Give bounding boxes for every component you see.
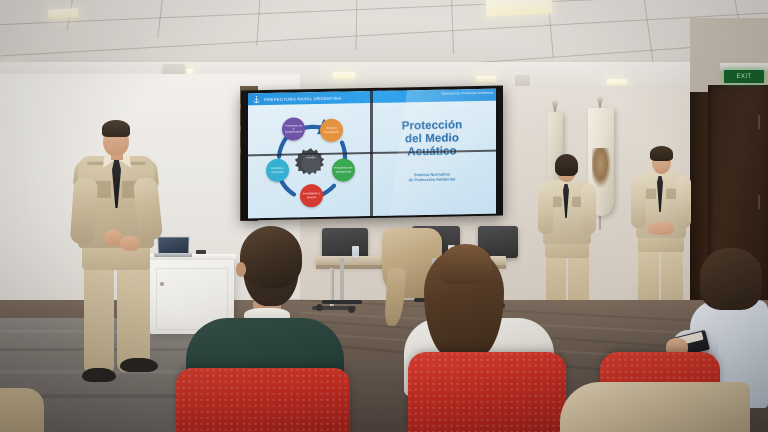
laptop-keyboard[interactable]	[154, 253, 192, 257]
presenter-hair	[102, 120, 130, 137]
officer-arm	[538, 184, 553, 234]
attendee-ear	[236, 262, 246, 277]
red-chair[interactable]	[176, 368, 350, 432]
officer-arm	[581, 184, 596, 234]
slide-subtitle: Sistema Normativo de Protección Ambienta…	[376, 171, 488, 183]
slide-org-text: PREFECTURA NAVAL ARGENTINA	[264, 95, 342, 101]
flag-crest	[592, 148, 611, 188]
ceiling-downlight	[48, 8, 78, 19]
slide-title: Protección del Medio Acuático	[376, 119, 488, 160]
water-glass	[352, 246, 359, 258]
ceiling-downlight	[476, 76, 496, 82]
presenter-hand	[120, 236, 140, 251]
chair-castor	[348, 306, 355, 313]
presentation-slide: PREFECTURA NAVAL ARGENTINA Direccion de …	[248, 89, 496, 219]
presenter-leg	[117, 262, 150, 372]
gear-icon	[295, 147, 327, 180]
red-chair[interactable]	[408, 352, 566, 432]
attendee-hair	[240, 226, 302, 288]
meeting-room-photo: EXIT PREFECTURA NAVAL ARGENTINA Direccio…	[0, 0, 768, 432]
officer-clasped-hands	[648, 222, 674, 235]
presenter-shoe	[82, 368, 116, 382]
presenter-leg	[84, 262, 114, 374]
officer-arm	[631, 176, 646, 228]
chair-base	[322, 300, 362, 304]
chair-castor	[316, 304, 323, 311]
officer-hair	[650, 146, 673, 161]
remote-control[interactable]	[196, 250, 206, 254]
exit-sign-label: EXIT	[737, 74, 752, 80]
anchor-crest-icon	[252, 95, 261, 104]
attendee-head	[440, 244, 492, 284]
presenter-arm	[70, 177, 99, 245]
cabinet-lock-icon	[160, 282, 164, 286]
presenter-shoe	[120, 358, 158, 372]
attendee-arm-far-left	[0, 388, 44, 432]
exit-sign: EXIT	[724, 70, 764, 83]
video-wall-display[interactable]: PREFECTURA NAVAL ARGENTINA Direccion de …	[248, 89, 496, 219]
ceiling-downlight	[333, 72, 355, 79]
ceiling-downlight	[607, 79, 627, 85]
slide-header-right-logo: Direccion de Proteccion Ambiental	[441, 90, 493, 95]
slide-subtitle-line2: de Protección Ambiental	[376, 176, 488, 183]
attendee-beige-trousers	[560, 382, 750, 432]
cycle-diagram: Protección del Medio Acuático Prevención…	[262, 113, 360, 211]
attendee-hair	[700, 248, 762, 310]
officer-hair	[555, 154, 578, 176]
officer-arm	[676, 176, 691, 228]
chair-stem	[340, 258, 344, 302]
